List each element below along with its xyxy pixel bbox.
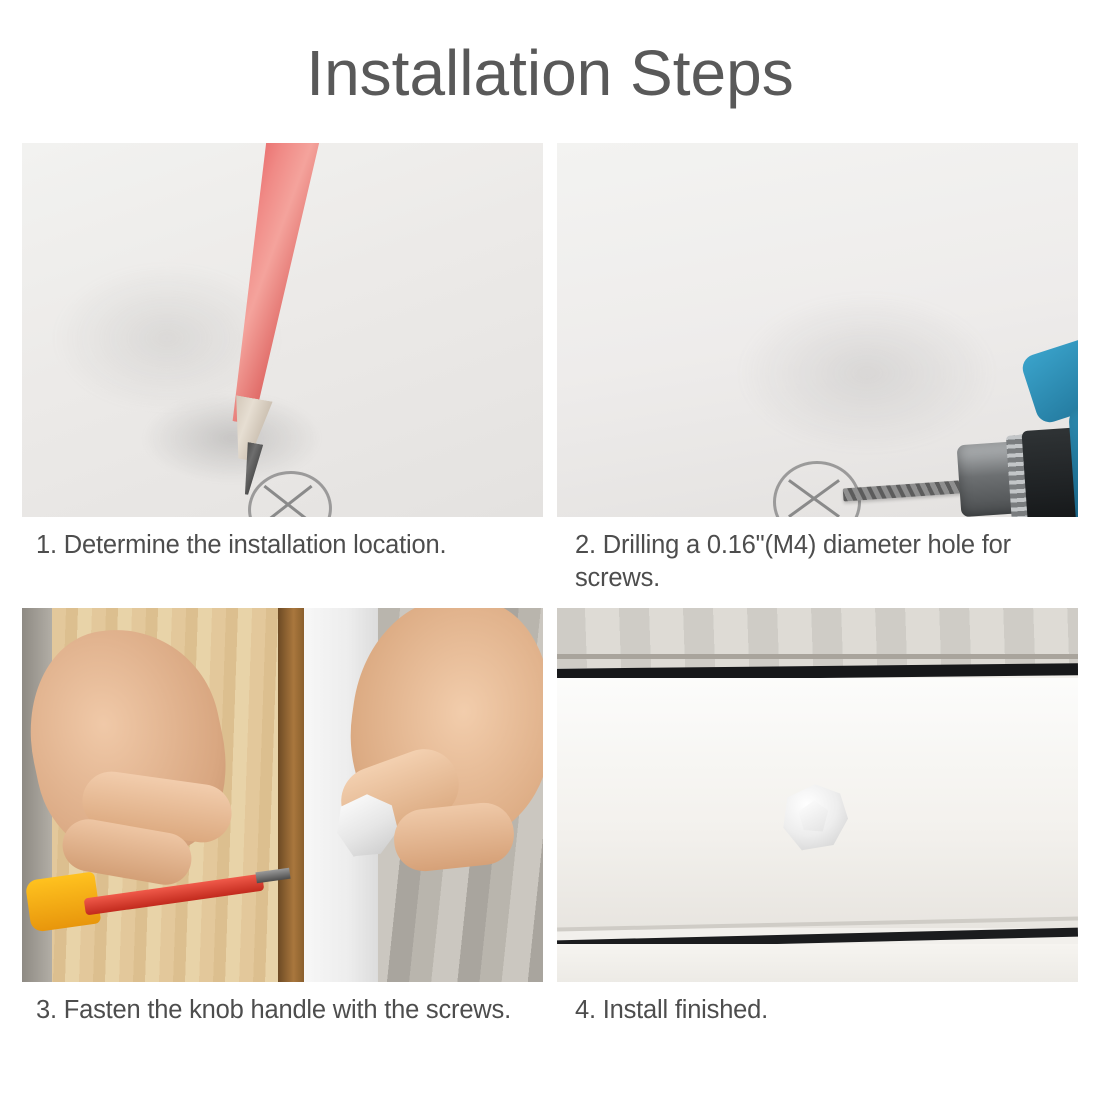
step-4-caption: 4. Install finished. [557, 982, 1078, 1027]
drill-body-upper [1019, 322, 1078, 426]
step-2-image [557, 143, 1078, 517]
step-3-image [22, 608, 543, 982]
steps-row-top: 1. Determine the installation location. … [22, 143, 1078, 594]
page-title: Installation Steps [0, 38, 1100, 108]
steps-row-bottom: 3. Fasten the knob handle with the screw… [22, 608, 1078, 1027]
step-4-image [557, 608, 1078, 982]
step-2-caption: 2. Drilling a 0.16"(M4) diameter hole fo… [557, 517, 1078, 594]
steps-grid: 1. Determine the installation location. … [22, 143, 1078, 1027]
row-divider [22, 594, 1078, 608]
panel-smudge [737, 293, 997, 453]
step-card-3: 3. Fasten the knob handle with the screw… [22, 608, 543, 1027]
step-card-1: 1. Determine the installation location. [22, 143, 543, 594]
floor-strip [557, 608, 1078, 668]
step-1-caption: 1. Determine the installation location. [22, 517, 543, 562]
step-1-image [22, 143, 543, 517]
lower-drawer-front [557, 944, 1078, 982]
panel-smudge-lower [142, 393, 322, 483]
drill-bit [843, 479, 974, 501]
step-card-4: 4. Install finished. [557, 608, 1078, 1027]
step-card-2: 2. Drilling a 0.16"(M4) diameter hole fo… [557, 143, 1078, 594]
installation-steps-page: Installation Steps 1. Determine the inst… [0, 0, 1100, 1100]
step-3-caption: 3. Fasten the knob handle with the screw… [22, 982, 543, 1027]
floor-seam [557, 654, 1078, 659]
wood-edge [278, 608, 304, 982]
